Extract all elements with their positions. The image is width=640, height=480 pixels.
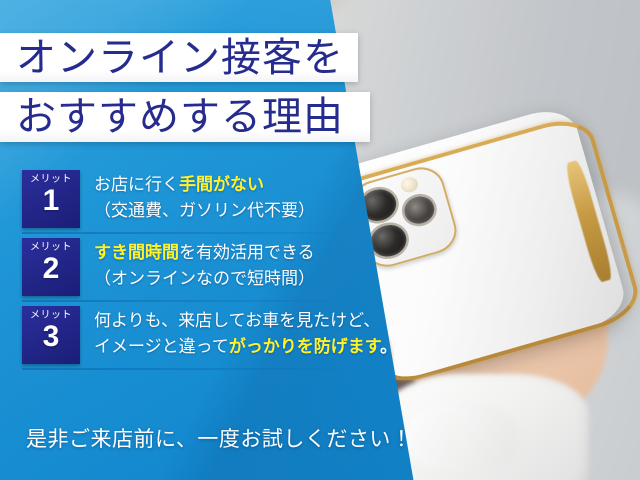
camera-lens-tele [401,193,437,227]
merit-badge: メリット 1 [22,170,80,228]
merit-row: メリット 3 何よりも、来店してお車を見たけど、 イメージと違ってがっかりを防げ… [22,306,392,374]
merit-text-line-1: お店に行く手間がない [94,172,315,198]
promo-banner: オンライン接客を おすすめする理由 メリット 1 お店に行く手間がない （交通費… [0,0,640,480]
merit-badge: メリット 3 [22,306,80,364]
merit-badge-number: 1 [43,186,60,216]
merit-text-plain: を有効活用できる [179,243,315,262]
merit-badge: メリット 2 [22,238,80,296]
white-cuff-fold [403,403,518,470]
title-band-line-2: おすすめする理由 [0,92,370,142]
merit-text-line-2: （オンラインなので短時間） [94,266,315,292]
title-band-line-1: オンライン接客を [0,33,358,82]
footer-callout: 是非ご来店前に、一度お試しください！ [26,423,412,453]
merit-badge-number: 2 [43,254,60,284]
merit-text-line-2: （交通費、ガソリン代不要） [94,198,315,224]
merit-text-plain: イメージと違って [94,337,229,356]
merit-text-highlight: がっかりを防げます [229,337,380,356]
merit-text-plain: お店に行く [94,175,179,194]
merit-text-line-1: すき間時間を有効活用できる [94,240,315,266]
merit-text: お店に行く手間がない （交通費、ガソリン代不要） [94,170,315,225]
merit-row: メリット 1 お店に行く手間がない （交通費、ガソリン代不要） [22,170,392,238]
merit-text-highlight: 手間がない [179,175,264,194]
merit-text-line-2: イメージと違ってがっかりを防げます。 [94,334,397,360]
camera-flash [399,176,420,195]
merit-text-line-1: 何よりも、来店してお車を見たけど、 [94,308,397,334]
merit-text-highlight: すき間時間 [94,243,179,262]
title-line-1-text: オンライン接客を [16,38,344,78]
merit-text: 何よりも、来店してお車を見たけど、 イメージと違ってがっかりを防げます。 [94,306,397,361]
merit-badge-number: 3 [43,322,60,352]
merit-list: メリット 1 お店に行く手間がない （交通費、ガソリン代不要） メリット 2 す… [22,170,392,374]
merit-row: メリット 2 すき間時間を有効活用できる （オンラインなので短時間） [22,238,392,306]
merit-text: すき間時間を有効活用できる （オンラインなので短時間） [94,238,315,293]
merit-text-period: 。 [380,337,397,356]
title-line-2-text: おすすめする理由 [16,97,344,137]
